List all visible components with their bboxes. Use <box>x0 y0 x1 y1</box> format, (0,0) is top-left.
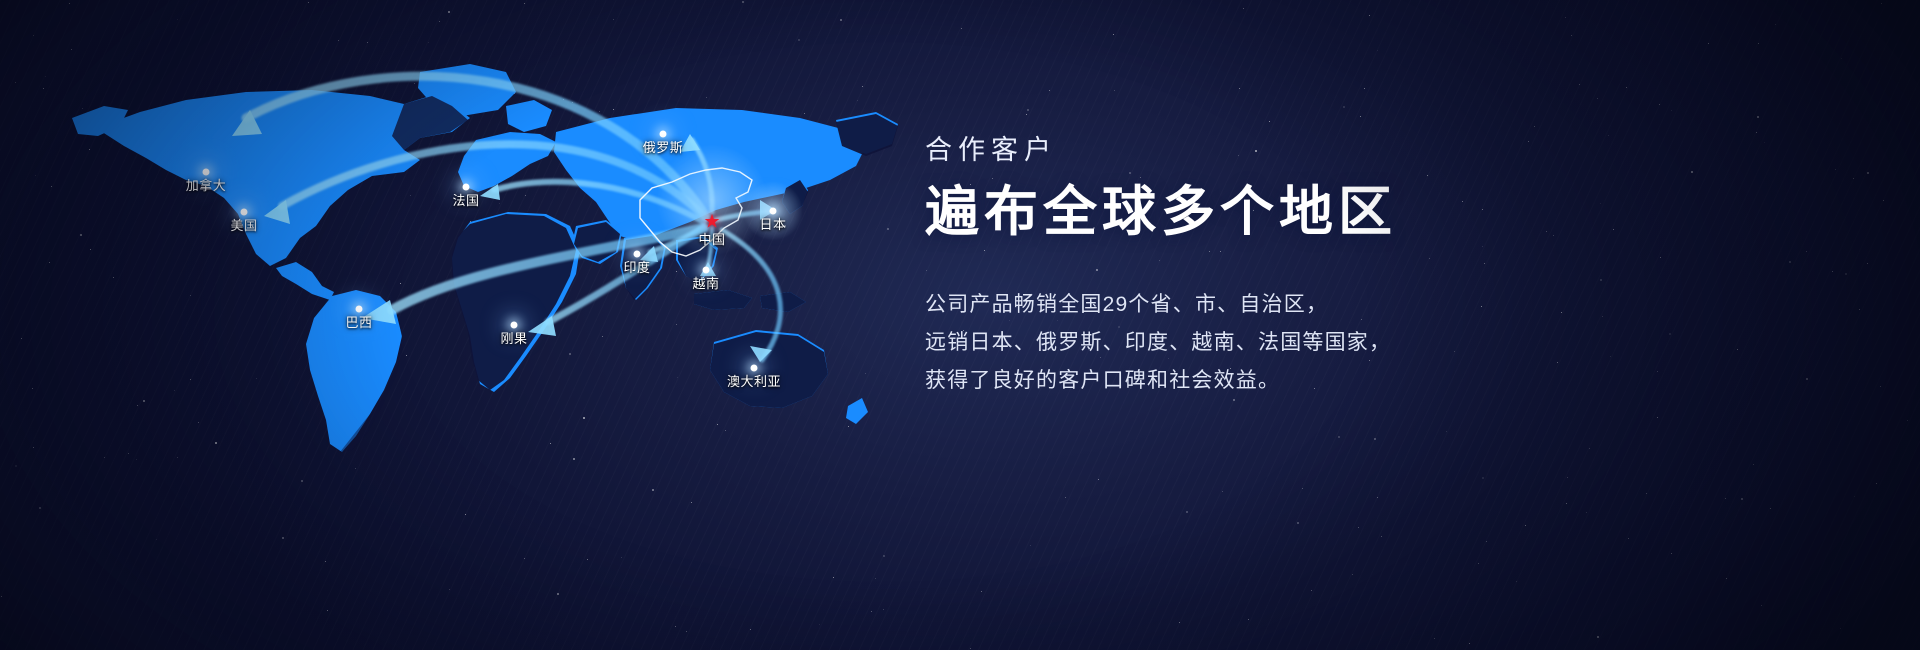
star-speck <box>1659 104 1660 105</box>
red-star-icon: ★ <box>703 213 720 232</box>
star-speck <box>1352 574 1353 575</box>
world-map: 加拿大美国巴西法国俄罗斯日本印度越南刚果澳大利亚★中国 <box>0 0 960 650</box>
star-speck <box>1377 50 1378 51</box>
star-speck <box>1358 527 1359 528</box>
star-speck <box>1565 17 1566 18</box>
star-speck <box>981 591 982 592</box>
star-speck <box>1243 8 1244 9</box>
star-speck <box>1482 477 1484 479</box>
star-speck <box>1725 498 1726 499</box>
star-speck <box>1469 643 1470 644</box>
star-speck <box>1761 605 1762 606</box>
map-marker-dot[interactable] <box>356 306 363 313</box>
star-speck <box>1049 90 1050 91</box>
star-speck <box>1311 590 1312 591</box>
star-speck <box>1030 545 1031 546</box>
star-speck <box>1098 479 1099 480</box>
star-speck <box>1338 436 1340 438</box>
global-clients-banner: 加拿大美国巴西法国俄罗斯日本印度越南刚果澳大利亚★中国 合作客户 遍布全球多个地… <box>0 0 1920 650</box>
star-speck <box>1434 638 1435 639</box>
map-label-4: 俄罗斯 <box>643 141 684 154</box>
star-speck <box>1841 58 1842 59</box>
star-speck <box>1525 525 1526 526</box>
star-speck <box>1881 3 1882 4</box>
map-marker-dot[interactable] <box>703 267 710 274</box>
description-line: 公司产品畅销全国29个省、市、自治区， <box>925 286 1885 324</box>
page-title: 遍布全球多个地区 <box>925 183 1885 242</box>
star-speck <box>1027 109 1029 111</box>
star-speck <box>1726 578 1727 579</box>
star-speck <box>1597 98 1598 99</box>
map-label-1: 美国 <box>230 219 257 232</box>
star-speck <box>1579 84 1580 85</box>
map-marker-dot[interactable] <box>511 322 518 329</box>
map-label-6: 印度 <box>623 261 650 274</box>
map-marker-dot[interactable] <box>751 365 758 372</box>
star-speck <box>1758 43 1759 44</box>
star-speck <box>1876 483 1877 484</box>
star-speck <box>1671 110 1672 111</box>
star-speck <box>1671 553 1672 554</box>
star-speck <box>1377 497 1378 498</box>
star-speck <box>1757 116 1759 118</box>
map-marker-dot[interactable] <box>660 131 667 138</box>
star-speck <box>1770 508 1771 509</box>
star-speck <box>1113 34 1114 35</box>
star-speck <box>1626 87 1627 88</box>
star-speck <box>1065 497 1066 498</box>
star-speck <box>1239 88 1240 89</box>
star-speck <box>1269 121 1270 122</box>
map-label-2: 巴西 <box>345 316 372 329</box>
map-label-7: 越南 <box>692 277 719 290</box>
star-speck <box>1516 581 1517 582</box>
map-marker-dot[interactable] <box>463 184 470 191</box>
star-speck <box>1589 448 1590 449</box>
star-speck <box>1364 88 1365 89</box>
star-speck <box>1708 43 1709 44</box>
star-speck <box>1753 464 1754 465</box>
star-speck <box>1360 116 1361 117</box>
star-speck <box>1486 541 1487 542</box>
star-speck <box>1186 511 1188 513</box>
star-speck <box>1646 493 1647 494</box>
star-speck <box>1571 35 1572 36</box>
star-speck <box>1343 106 1345 108</box>
map-marker-dot[interactable] <box>634 251 641 258</box>
star-speck <box>1854 496 1855 497</box>
description-line: 获得了良好的客户口碑和社会效益。 <box>925 362 1885 400</box>
star-speck <box>1586 512 1587 513</box>
star-speck <box>1369 15 1370 16</box>
star-speck <box>1302 488 1303 489</box>
star-speck <box>1566 503 1567 504</box>
star-speck <box>1478 563 1479 564</box>
eyebrow-text: 合作客户 <box>925 128 1885 167</box>
star-speck <box>1381 536 1382 537</box>
star-speck <box>1907 420 1908 421</box>
star-speck <box>1840 628 1841 629</box>
star-speck <box>1297 522 1299 524</box>
description-paragraph: 公司产品畅销全国29个省、市、自治区，远销日本、俄罗斯、印度、越南、法国等国家，… <box>925 286 1885 400</box>
star-speck <box>1222 491 1223 492</box>
star-speck <box>1597 636 1599 638</box>
star-speck <box>970 648 971 649</box>
world-map-svg <box>0 0 960 650</box>
star-speck <box>1248 619 1249 620</box>
description-line: 远销日本、俄罗斯、印度、越南、法国等国家， <box>925 324 1885 362</box>
map-label-origin: 中国 <box>698 233 725 246</box>
map-label-0: 加拿大 <box>186 179 227 192</box>
map-label-5: 日本 <box>759 218 786 231</box>
star-speck <box>1741 498 1743 500</box>
star-speck <box>961 28 962 29</box>
map-marker-dot[interactable] <box>203 169 210 176</box>
map-marker-dot[interactable] <box>770 208 777 215</box>
map-label-3: 法国 <box>452 194 479 207</box>
star-speck <box>1628 538 1629 539</box>
map-label-9: 澳大利亚 <box>727 375 781 388</box>
star-speck <box>1114 90 1115 91</box>
star-speck <box>1657 417 1658 418</box>
star-speck <box>1446 431 1447 432</box>
star-speck <box>1026 114 1027 115</box>
star-speck <box>1179 622 1180 623</box>
star-speck <box>1775 24 1776 25</box>
map-marker-dot[interactable] <box>241 209 248 216</box>
star-speck <box>1374 438 1376 440</box>
copy-block: 合作客户 遍布全球多个地区 公司产品畅销全国29个省、市、自治区，远销日本、俄罗… <box>925 128 1885 400</box>
star-speck <box>1567 477 1568 478</box>
map-label-8: 刚果 <box>500 332 527 345</box>
